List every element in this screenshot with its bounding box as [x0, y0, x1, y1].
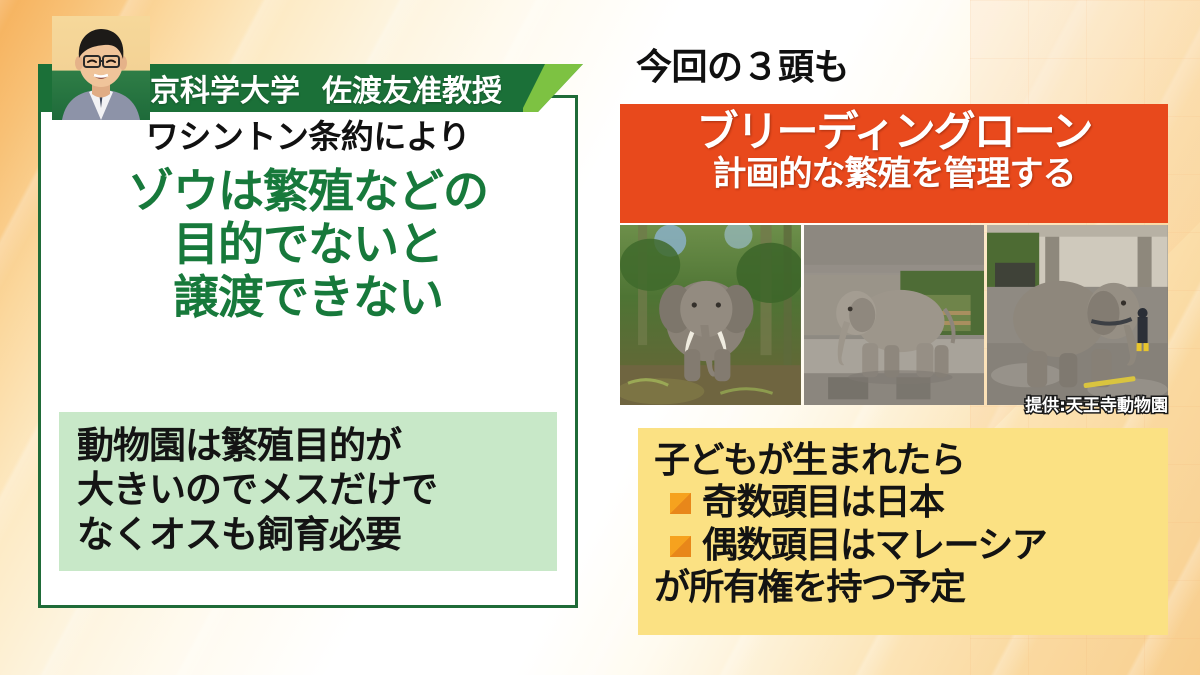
breeding-loan-title: ブリーディングローン	[620, 108, 1168, 156]
square-bullet-icon	[670, 536, 691, 557]
elephant-photo-2	[804, 225, 985, 405]
ownership-footer-text: が所有権を持つ予定	[654, 567, 965, 609]
portrait-illustration	[52, 16, 150, 120]
elephant-in-forest-image	[620, 225, 801, 405]
lead-text: ワシントン条約により	[41, 120, 575, 153]
photo-credit: 提供:天王寺動物園	[1025, 391, 1168, 416]
ownership-heading-text: 子どもが生まれたら	[654, 440, 965, 482]
professor-portrait	[52, 16, 150, 120]
headline-line-1: ゾウは繁殖などの	[41, 165, 575, 218]
breeding-loan-subtitle: 計画的な繁殖を管理する	[620, 156, 1168, 193]
ownership-bullet-1-text: 奇数頭目は日本	[702, 482, 944, 524]
expert-comment-card: ワシントン条約により ゾウは繁殖などの 目的でないと 譲渡できない 動物園は繁殖…	[38, 95, 578, 608]
note-line-2: 大きいのでメスだけで	[77, 468, 547, 512]
elephant-photo-1	[620, 225, 801, 405]
ownership-bullet-1: 奇数頭目は日本	[654, 482, 1158, 524]
ownership-bullet-2-text: 偶数頭目はマレーシア	[702, 525, 1046, 567]
headline-line-2: 目的でないと	[41, 218, 575, 271]
headline-green: ゾウは繁殖などの 目的でないと 譲渡できない	[41, 165, 575, 324]
news-graphic-stage: ワシントン条約により ゾウは繁殖などの 目的でないと 譲渡できない 動物園は繁殖…	[0, 0, 1200, 675]
ownership-footer: が所有権を持つ予定	[654, 567, 1158, 609]
ownership-heading: 子どもが生まれたら	[654, 440, 1158, 482]
headline-line-3: 譲渡できない	[41, 271, 575, 324]
note-line-1: 動物園は繁殖目的が	[77, 424, 547, 468]
elephant-in-enclosure-image	[987, 225, 1168, 405]
banner-person-name: 佐渡友准教授	[322, 66, 502, 110]
note-line-3: なくオスも飼育必要	[77, 513, 547, 557]
elephant-photo-3	[987, 225, 1168, 405]
square-bullet-icon	[670, 493, 691, 514]
supplementary-note-box: 動物園は繁殖目的が 大きいのでメスだけで なくオスも飼育必要	[59, 412, 557, 571]
right-heading: 今回の３頭も	[636, 38, 849, 90]
breeding-loan-box: ブリーディングローン 計画的な繁殖を管理する	[620, 104, 1168, 223]
ownership-rule-box: 子どもが生まれたら 奇数頭目は日本 偶数頭目はマレーシア が所有権を持つ予定	[638, 428, 1168, 635]
ownership-bullet-2: 偶数頭目はマレーシア	[654, 525, 1158, 567]
elephant-side-view-image	[804, 225, 985, 405]
banner-text: 帝京科学大学 佐渡友准教授	[120, 64, 502, 112]
elephant-photo-strip	[620, 225, 1168, 405]
